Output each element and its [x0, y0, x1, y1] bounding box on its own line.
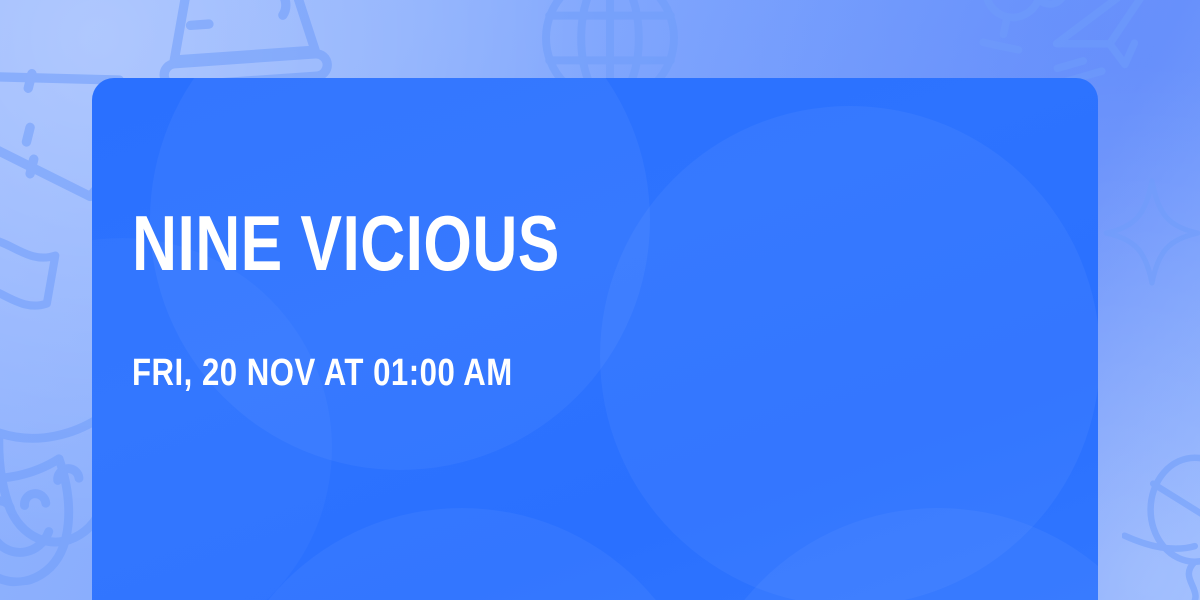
event-datetime: FRI, 20 NOV AT 01:00 AM	[132, 354, 513, 392]
event-card-canvas: NINE VICIOUS FRI, 20 NOV AT 01:00 AM	[0, 0, 1200, 600]
event-card[interactable]: NINE VICIOUS FRI, 20 NOV AT 01:00 AM	[92, 78, 1098, 600]
event-title: NINE VICIOUS	[132, 204, 560, 282]
event-card-body: NINE VICIOUS FRI, 20 NOV AT 01:00 AM	[132, 78, 1058, 600]
